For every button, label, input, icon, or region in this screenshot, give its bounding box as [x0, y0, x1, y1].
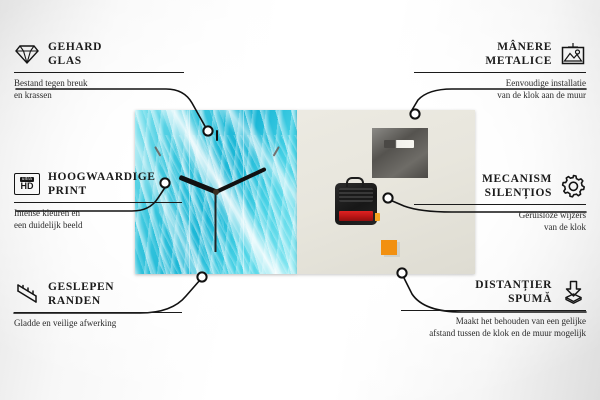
ultra-hd-icon: ultra HD	[14, 173, 40, 195]
clock-second-hand	[215, 192, 217, 252]
feature-header: ultra HD HOOGWAARDIGE PRINT	[14, 170, 182, 199]
feature-description: Eenvoudige installatie van de klok aan d…	[414, 77, 586, 101]
beveled-edge-icon	[14, 281, 40, 307]
battery-terminal	[375, 213, 380, 221]
feature-mecanism-silentios: MECANISM SILENȚIOS Geruisloze wijzers va…	[414, 172, 586, 233]
clock-tick-12	[216, 130, 218, 192]
feature-rule	[14, 72, 184, 73]
hanger-slot	[384, 140, 414, 148]
feature-title: HOOGWAARDIGE PRINT	[48, 170, 156, 199]
feature-geslepen-randen: GESLEPEN RANDEN Gladde en veilige afwerk…	[14, 280, 182, 329]
battery	[339, 211, 373, 221]
feature-description: Gladde en veilige afwerking	[14, 317, 182, 329]
feature-manere-metalice: MÂNERE METALICE Eenvoudige installatie v…	[414, 40, 586, 101]
feature-hoogwaardige-print: ultra HD HOOGWAARDIGE PRINT Intense kleu…	[14, 170, 182, 231]
feature-rule	[14, 312, 182, 313]
feature-title: GESLEPEN RANDEN	[48, 280, 114, 309]
feature-description: Intense kleuren en een duidelijk beeld	[14, 207, 182, 231]
feature-title: MECANISM SILENȚIOS	[482, 172, 552, 201]
clock-hour-hand	[178, 175, 217, 195]
clock-tick-2	[270, 191, 297, 224]
clock-center-cap	[213, 189, 219, 195]
feature-rule	[401, 310, 586, 311]
feature-header: GESLEPEN RANDEN	[14, 280, 182, 309]
feature-header: MÂNERE METALICE	[414, 40, 586, 69]
clock-tick-3	[279, 253, 297, 255]
metal-hanger-plate	[372, 128, 428, 178]
spacer-stack-icon	[560, 279, 586, 305]
orange-foam-spacer	[381, 240, 397, 255]
gear-icon	[560, 173, 586, 199]
feature-title: MÂNERE METALICE	[485, 40, 552, 69]
feature-title: GEHARD GLAS	[48, 40, 102, 69]
feature-header: MECANISM SILENȚIOS	[414, 172, 586, 201]
feature-description: Maakt het behouden van een gelijke afsta…	[401, 315, 586, 339]
feature-gehard-glas: GEHARD GLAS Bestand tegen breuk en krass…	[14, 40, 184, 101]
feature-rule	[14, 202, 182, 203]
feature-description: Geruisloze wijzers van de klok	[414, 209, 586, 233]
feature-rule	[414, 72, 586, 73]
clock-mechanism-box	[335, 183, 377, 225]
diamond-icon	[14, 41, 40, 67]
ultra-hd-icon-hd-label: HD	[21, 182, 34, 191]
feature-title: DISTANȚIER SPUMĂ	[475, 278, 552, 307]
feature-header: GEHARD GLAS	[14, 40, 184, 69]
mechanism-grill	[339, 188, 373, 202]
mechanism-hang-loop	[346, 177, 364, 187]
wall-frame-hanger-icon	[560, 41, 586, 67]
feature-header: DISTANȚIER SPUMĂ	[401, 278, 586, 307]
feature-distantier-spuma: DISTANȚIER SPUMĂ Maakt het behouden van …	[401, 278, 586, 339]
clock-tick-9	[135, 253, 155, 255]
feature-rule	[414, 204, 586, 205]
feature-description: Bestand tegen breuk en krassen	[14, 77, 184, 101]
